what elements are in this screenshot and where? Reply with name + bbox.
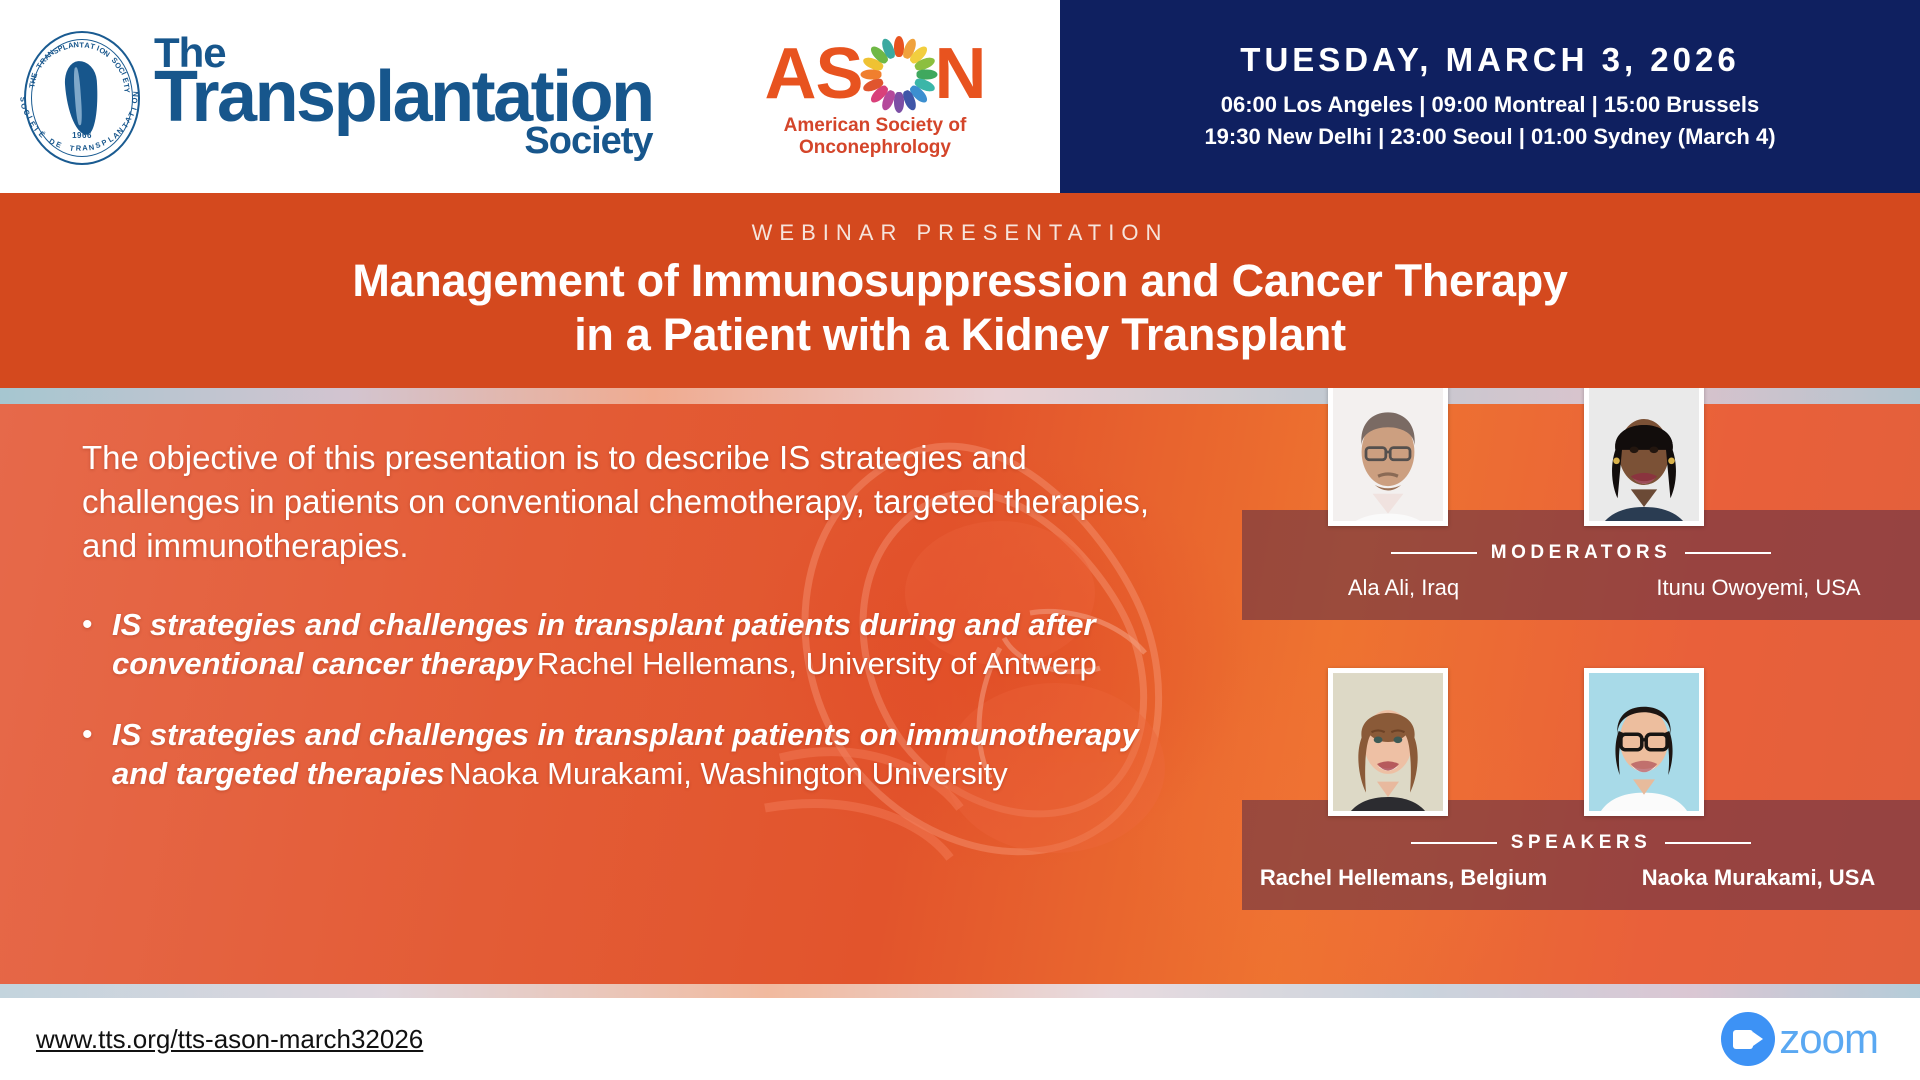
divider-right	[1685, 552, 1771, 554]
ason-letters-left: AS	[764, 38, 862, 110]
title-band: WEBINAR PRESENTATION Management of Immun…	[0, 193, 1920, 388]
content-text-column: The objective of this presentation is to…	[82, 436, 1172, 825]
list-item: • IS strategies and challenges in transp…	[82, 605, 1172, 685]
ason-subtitle-line1: American Society of	[784, 115, 967, 136]
divider-left	[1391, 552, 1477, 554]
list-item: • IS strategies and challenges in transp…	[82, 715, 1172, 795]
speaker-name: Rachel Hellemans, Belgium	[1242, 865, 1587, 891]
registration-url-link[interactable]: www.tts.org/tts-ason-march32026	[36, 1024, 423, 1055]
ason-letters-right: N	[935, 38, 986, 110]
webinar-poster: THE TRANSPLANTATION SOCIETY 1966 SOCIÉTÉ…	[0, 0, 1920, 1080]
footer-bar: www.tts.org/tts-ason-march32026 zoom	[0, 998, 1920, 1080]
webinar-title-line-2: in a Patient with a Kidney Transplant	[352, 308, 1567, 361]
tts-seal-arc-bottom: SOCIÉTÉ DE TRANSPLANTATION	[18, 27, 146, 167]
speaker-name: Naoka Murakami, USA	[1587, 865, 1920, 891]
webinar-date: TUESDAY, MARCH 3, 2026	[1240, 41, 1739, 79]
bullet-icon: •	[82, 715, 112, 795]
ason-subtitle-line2: Onconephrology	[784, 137, 967, 158]
kicker-label: WEBINAR PRESENTATION	[752, 220, 1169, 246]
topics-list: • IS strategies and challenges in transp…	[82, 605, 1172, 795]
moderators-label: MODERATORS	[1242, 542, 1920, 564]
tts-wordmark: The Transplantation Society	[154, 35, 653, 159]
topic-presenter: Naoka Murakami, Washington University	[449, 756, 1008, 791]
objective-paragraph: The objective of this presentation is to…	[82, 436, 1172, 569]
moderator-names: Ala Ali, Iraq Itunu Owoyemi, USA	[1242, 575, 1920, 601]
people-panel: MODERATORS Ala Ali, Iraq Itunu Owoyemi, …	[1220, 388, 1920, 998]
moderators-label-band	[1242, 510, 1920, 620]
zoom-camera-icon	[1721, 1012, 1775, 1066]
header-bar: THE TRANSPLANTATION SOCIETY 1966 SOCIÉTÉ…	[0, 0, 1920, 193]
speakers-label-band	[1242, 800, 1920, 910]
topic-presenter: Rachel Hellemans, University of Antwerp	[537, 646, 1097, 681]
timezones-line-1: 06:00 Los Angeles | 09:00 Montreal | 15:…	[1221, 89, 1760, 120]
divider-left	[1411, 842, 1497, 844]
zoom-logo: zoom	[1721, 1012, 1878, 1066]
moderator-name: Itunu Owoyemi, USA	[1587, 575, 1920, 601]
divider-right	[1665, 842, 1751, 844]
avatar	[1328, 668, 1448, 816]
tts-seal-icon: THE TRANSPLANTATION SOCIETY 1966 SOCIÉTÉ…	[18, 27, 146, 167]
moderators-label-text: MODERATORS	[1491, 542, 1671, 564]
zoom-wordmark: zoom	[1779, 1015, 1878, 1063]
avatar	[1328, 388, 1448, 526]
moderator-name: Ala Ali, Iraq	[1242, 575, 1587, 601]
speaker-names: Rachel Hellemans, Belgium Naoka Murakami…	[1242, 865, 1920, 891]
ason-logo: AS N American Society of Onconephrology	[690, 0, 1060, 193]
speakers-label: SPEAKERS	[1242, 832, 1920, 854]
moderators-group: MODERATORS Ala Ali, Iraq Itunu Owoyemi, …	[1220, 388, 1920, 660]
main-content: The objective of this presentation is to…	[0, 388, 1920, 998]
speakers-group: SPEAKERS Rachel Hellemans, Belgium Naoka…	[1220, 660, 1920, 950]
tts-logo: THE TRANSPLANTATION SOCIETY 1966 SOCIÉTÉ…	[0, 0, 690, 193]
webinar-title-line-1: Management of Immunosuppression and Canc…	[352, 254, 1567, 307]
avatar	[1584, 388, 1704, 526]
date-banner: TUESDAY, MARCH 3, 2026 06:00 Los Angeles…	[1060, 0, 1920, 193]
avatar	[1584, 668, 1704, 816]
ason-people-circle-icon	[861, 36, 937, 112]
bullet-icon: •	[82, 605, 112, 685]
speakers-label-text: SPEAKERS	[1511, 832, 1652, 854]
timezones-line-2: 19:30 New Delhi | 23:00 Seoul | 01:00 Sy…	[1204, 121, 1775, 152]
